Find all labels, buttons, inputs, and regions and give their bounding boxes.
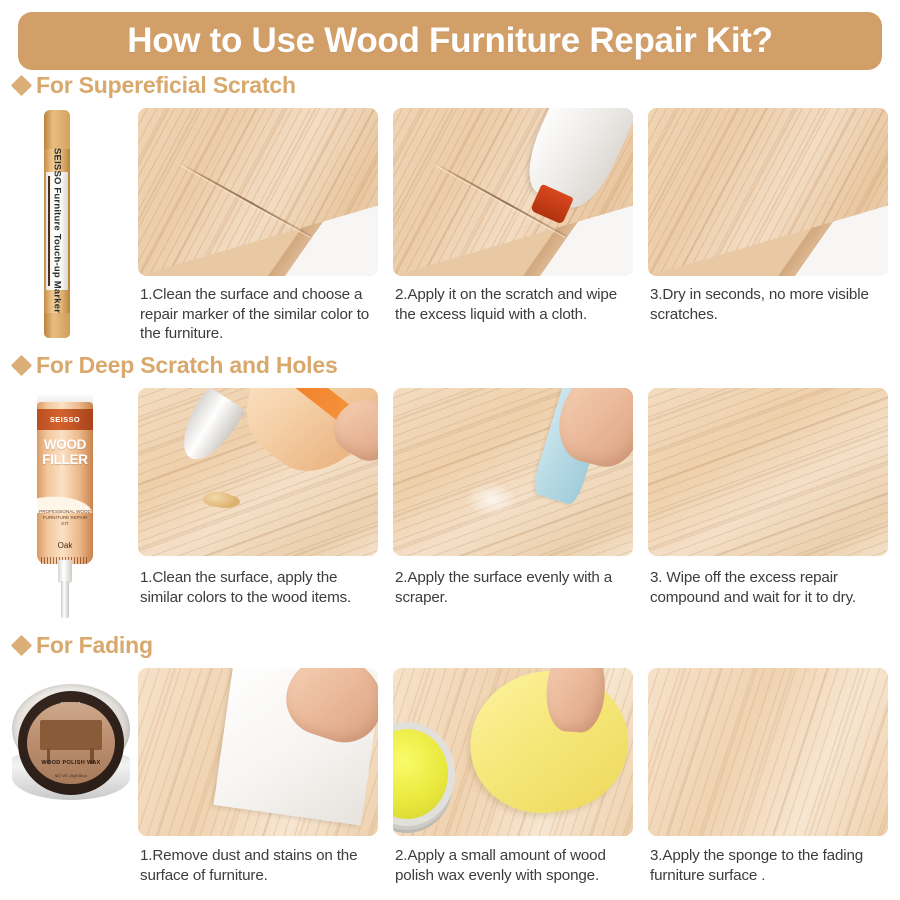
step-photo-1-1 bbox=[138, 108, 378, 276]
step-caption-1-3: 3.Dry in seconds, no more visible scratc… bbox=[650, 285, 890, 324]
infographic-page: How to Use Wood Furniture Repair Kit? Fo… bbox=[0, 0, 900, 900]
tin-label-art bbox=[27, 702, 114, 785]
product-wood-filler-tube: SEISSO WOOD FILLER PROFESSIONAL WOOD FUR… bbox=[32, 388, 98, 620]
tube-subtitle: PROFESSIONAL WOOD FURNITURE REPAIR KIT bbox=[39, 509, 92, 527]
step-photo-1-3 bbox=[648, 108, 888, 276]
step-caption-3-1: 1.Remove dust and stains on the surface … bbox=[140, 846, 380, 885]
step-photo-2-3 bbox=[648, 388, 888, 556]
page-title: How to Use Wood Furniture Repair Kit? bbox=[127, 21, 772, 61]
section-title: For Deep Scratch and Holes bbox=[36, 352, 338, 379]
pen-cap bbox=[44, 110, 70, 149]
tube-brand-bar: SEISSO bbox=[37, 409, 92, 430]
step-caption-3-2: 2.Apply a small amount of wood polish wa… bbox=[395, 846, 635, 885]
step-photo-3-1 bbox=[138, 668, 378, 836]
tin-net-weight: NET WT. 25g/0.88 oz bbox=[12, 774, 130, 778]
tube-brand: SEISSO bbox=[50, 415, 80, 424]
section-title: For Fading bbox=[36, 632, 153, 659]
section-heading-superficial-scratch: For Supereficial Scratch bbox=[14, 72, 296, 99]
filler-patch bbox=[465, 482, 518, 516]
pen-stripe bbox=[48, 176, 50, 285]
product-wax-tin: SEISSO WOOD POLISH WAX NET WT. 25g/0.88 … bbox=[12, 684, 130, 802]
diamond-bullet-icon bbox=[11, 355, 32, 376]
pen-brand-and-name: SEISSO Furniture Touch-up Marker bbox=[51, 148, 62, 313]
product-marker-pen: SEISSO Furniture Touch-up Marker bbox=[44, 110, 70, 338]
tin-product-name: WOOD POLISH WAX bbox=[12, 760, 130, 766]
step-photo-3-2 bbox=[393, 668, 633, 836]
step-caption-2-1: 1.Clean the surface, apply the similar c… bbox=[140, 568, 380, 607]
tube-neck bbox=[58, 560, 71, 583]
tube-shade: Oak bbox=[39, 541, 92, 550]
section-heading-fading: For Fading bbox=[14, 632, 153, 659]
step-caption-1-2: 2.Apply it on the scratch and wipe the e… bbox=[395, 285, 635, 324]
diamond-bullet-icon bbox=[11, 635, 32, 656]
table-illustration bbox=[40, 720, 103, 750]
tube-nozzle bbox=[61, 581, 68, 618]
header-banner: How to Use Wood Furniture Repair Kit? bbox=[18, 12, 882, 70]
section-heading-deep-scratch-holes: For Deep Scratch and Holes bbox=[14, 352, 338, 379]
tube-product-name: WOOD FILLER bbox=[37, 437, 92, 467]
step-photo-1-2 bbox=[393, 108, 633, 276]
pen-end bbox=[44, 313, 70, 338]
step-photo-2-1 bbox=[138, 388, 378, 556]
section-title: For Supereficial Scratch bbox=[36, 72, 296, 99]
step-caption-2-2: 2.Apply the surface evenly with a scrape… bbox=[395, 568, 635, 607]
step-caption-1-1: 1.Clean the surface and choose a repair … bbox=[140, 285, 380, 344]
step-photo-3-3 bbox=[648, 668, 888, 836]
diamond-bullet-icon bbox=[11, 75, 32, 96]
step-caption-2-3: 3. Wipe off the excess repair compound a… bbox=[650, 568, 890, 607]
step-caption-3-3: 3.Apply the sponge to the fading furnitu… bbox=[650, 846, 890, 885]
step-photo-2-2 bbox=[393, 388, 633, 556]
